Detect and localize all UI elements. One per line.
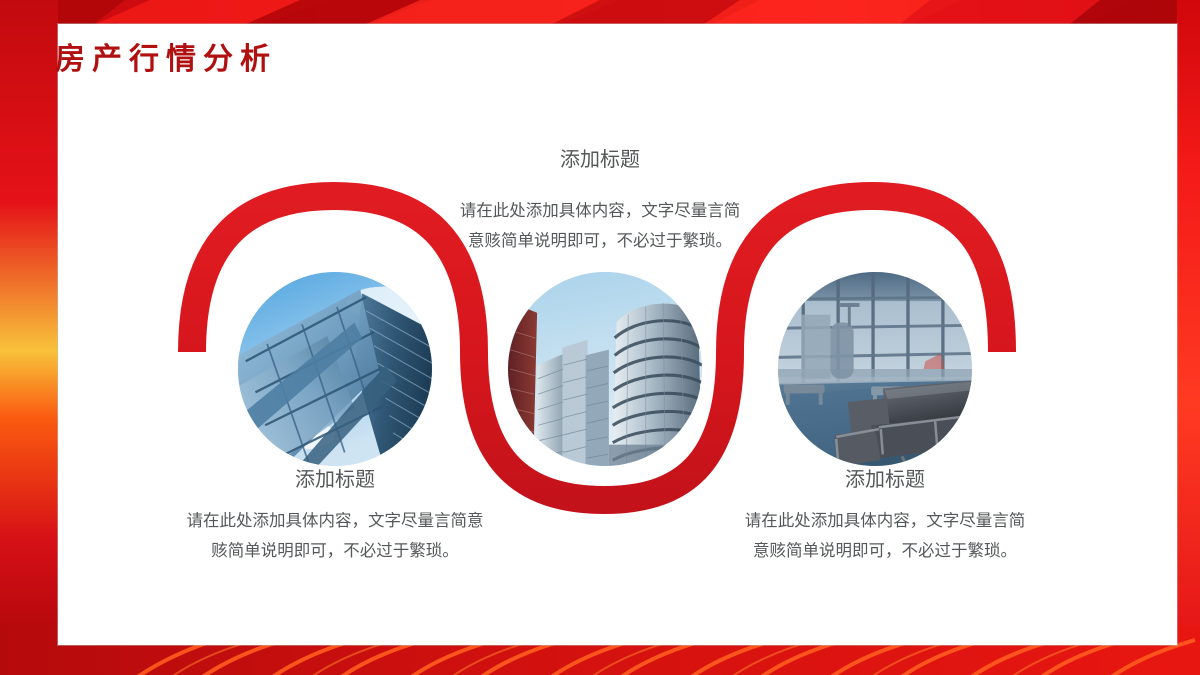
photo-circle-right[interactable] [778, 272, 972, 466]
block-title-center: 添加标题 [500, 146, 700, 174]
block-body-left-line1: 请在此处添加具体内容，文字尽量言简意 [165, 506, 505, 536]
block-body-right: 请在此处添加具体内容，文字尽量言简 意赅简单说明即可，不必过于繁琐。 [720, 506, 1050, 566]
infographic-stage [0, 0, 1200, 675]
block-body-center-line1: 请在此处添加具体内容，文字尽量言简 [435, 196, 765, 226]
block-body-center-line2: 意赅简单说明即可，不必过于繁琐。 [435, 226, 765, 256]
photo-circle-center[interactable] [508, 272, 702, 466]
block-body-left: 请在此处添加具体内容，文字尽量言简意 赅简单说明即可，不必过于繁琐。 [165, 506, 505, 566]
slide-root: 房产行情分析 [0, 0, 1200, 675]
block-body-right-line2: 意赅简单说明即可，不必过于繁琐。 [720, 536, 1050, 566]
block-title-right: 添加标题 [805, 466, 965, 494]
block-body-center: 请在此处添加具体内容，文字尽量言简 意赅简单说明即可，不必过于繁琐。 [435, 196, 765, 256]
block-body-right-line1: 请在此处添加具体内容，文字尽量言简 [720, 506, 1050, 536]
block-body-left-line2: 赅简单说明即可，不必过于繁琐。 [165, 536, 505, 566]
block-title-left: 添加标题 [255, 466, 415, 494]
photo-circle-left[interactable] [238, 272, 432, 466]
